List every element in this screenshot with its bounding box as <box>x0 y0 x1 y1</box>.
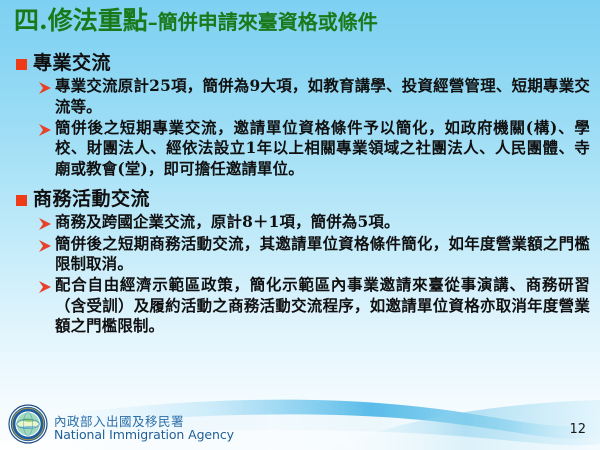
slide-body: 專業交流 專業交流原計25項，簡併為9大項，如教育講學、投資經營管理、短期專業交… <box>0 52 600 337</box>
arrow-bullet-icon <box>38 240 52 281</box>
list-item-text: 商務及跨國企業交流，原計8＋1項，簡併為5項。 <box>55 212 400 232</box>
list-item: 商務及跨國企業交流，原計8＋1項，簡併為5項。 <box>0 212 600 232</box>
list-item: 簡併後之短期商務活動交流，其邀請單位資格條件簡化，如年度營業額之門檻限制取消。 <box>0 234 600 275</box>
organization-name-en: National Immigration Agency <box>54 428 234 441</box>
title-dash: – <box>148 10 158 34</box>
section-business-activity-exchange: 商務活動交流 商務及跨國企業交流，原計8＋1項，簡併為5項。 簡併後之短期商務活… <box>0 188 600 336</box>
section-heading: 專業交流 <box>0 52 600 74</box>
title-subtitle-text: 簡併申請來臺資格或條件 <box>158 10 378 34</box>
organization-name-zh: 內政部入出國及移民署 <box>54 415 234 428</box>
section-heading-label: 專業交流 <box>33 52 111 74</box>
title-main-text: 四.修法重點 <box>14 6 148 35</box>
page-title: 四.修法重點–簡併申請來臺資格或條件 <box>14 8 378 33</box>
list-item-text: 簡併後之短期專業交流，邀請單位資格條件予以簡化，如政府機關(構)、學校、財團法人… <box>55 118 590 179</box>
organization-name: 內政部入出國及移民署 National Immigration Agency <box>54 415 234 441</box>
slide-canvas: 四.修法重點–簡併申請來臺資格或條件 專業交流 專業交流原計25項，簡併為9大項… <box>0 0 600 450</box>
list-item-text: 簡併後之短期商務活動交流，其邀請單位資格條件簡化，如年度營業額之門檻限制取消。 <box>55 234 590 275</box>
arrow-bullet-icon <box>38 281 52 342</box>
section-heading-label: 商務活動交流 <box>33 188 150 210</box>
section-professional-exchange: 專業交流 專業交流原計25項，簡併為9大項，如教育講學、投資經營管理、短期專業交… <box>0 52 600 179</box>
arrow-bullet-icon <box>38 82 52 123</box>
list-item-text: 配合自由經濟示範區政策，簡化示範區內事業邀請來臺從事演講、商務研習（含受訓）及履… <box>55 275 590 336</box>
page-number: 12 <box>569 422 586 437</box>
square-bullet-icon <box>16 195 27 206</box>
list-item: 配合自由經濟示範區政策，簡化示範區內事業邀請來臺從事演講、商務研習（含受訓）及履… <box>0 275 600 336</box>
national-immigration-agency-emblem-icon <box>8 404 48 444</box>
arrow-bullet-icon <box>38 218 52 238</box>
list-item-text: 專業交流原計25項，簡併為9大項，如教育講學、投資經營管理、短期專業交流等。 <box>55 76 590 117</box>
square-bullet-icon <box>16 59 27 70</box>
section-heading: 商務活動交流 <box>0 188 600 210</box>
arrow-bullet-icon <box>38 124 52 185</box>
list-item: 簡併後之短期專業交流，邀請單位資格條件予以簡化，如政府機關(構)、學校、財團法人… <box>0 118 600 179</box>
list-item: 專業交流原計25項，簡併為9大項，如教育講學、投資經營管理、短期專業交流等。 <box>0 76 600 117</box>
